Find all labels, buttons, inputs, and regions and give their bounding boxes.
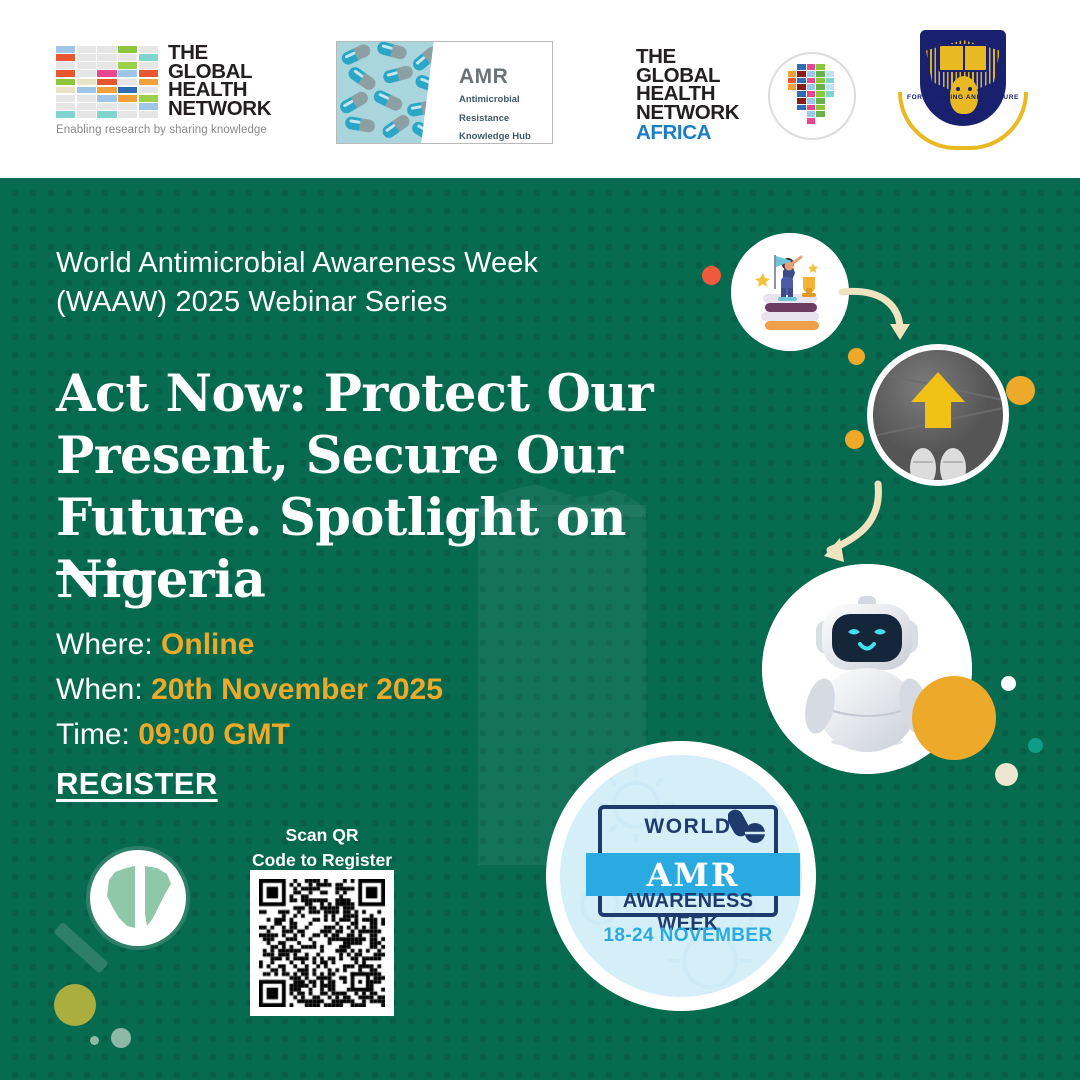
logo-the-global-health-network: THE GLOBAL HEALTH NETWORK Enabling resea… (56, 44, 324, 144)
scan-qr-label: Scan QR Code to Register (247, 823, 397, 873)
detail-label-where: Where: (56, 628, 153, 661)
detail-row-time: Time: 09:00 GMT (56, 712, 443, 757)
waaw-badge: WORLD AMR AWARENESS WEEK 18-24 NOVEMBER (546, 741, 816, 1011)
register-link[interactable]: REGISTER (56, 766, 218, 802)
decorative-dot-gold-large (912, 676, 996, 760)
logo-university-crest: FOR LEARNING AND CULTURE (898, 30, 1028, 154)
poster-root: THE GLOBAL HEALTH NETWORK Enabling resea… (0, 0, 1080, 1080)
decorative-dot-white (1001, 676, 1016, 691)
decorative-dot-cream (995, 763, 1018, 786)
detail-row-when: When: 20th November 2025 (56, 667, 443, 712)
decorative-dot-green-1 (111, 1028, 131, 1048)
capsule-pills-illustration-icon (337, 42, 449, 143)
logo-amr-knowledge-hub: AMR Antimicrobial Resistance Knowledge H… (336, 41, 553, 144)
logo-the-global-health-network-africa: THE GLOBAL HEALTH NETWORK AFRICA (636, 48, 852, 140)
magnifier-over-nigeria-map-icon (54, 838, 194, 988)
event-details: Where: Online When: 20th November 2025 T… (56, 622, 443, 757)
decorative-dot-gold-2 (845, 430, 864, 449)
decorative-dot-green-2 (90, 1036, 99, 1045)
crest-motto: FOR LEARNING AND CULTURE (898, 94, 1028, 101)
tghn-tagline: Enabling research by sharing knowledge (56, 124, 267, 136)
qr-code[interactable] (250, 870, 394, 1016)
waaw-dates-text: 18-24 NOVEMBER (580, 925, 796, 947)
event-series-kicker: World Antimicrobial Awareness Week (WAAW… (56, 244, 616, 322)
page-title: Act Now: Protect Our Present, Secure Our… (56, 363, 826, 611)
decorative-dot-teal (1028, 738, 1043, 753)
scan-qr-label-line1: Scan QR (247, 823, 397, 848)
amr-hub-sub3: Knowledge Hub (459, 130, 531, 144)
qr-code-canvas[interactable] (259, 879, 385, 1007)
amr-hub-title: AMR (459, 66, 531, 88)
decorative-dot-gold-3 (1006, 376, 1035, 405)
nigeria-map-icon (101, 862, 175, 934)
detail-value-when: 20th November 2025 (151, 673, 443, 706)
africa-map-mosaic-icon (788, 64, 834, 124)
logo-bar: THE GLOBAL HEALTH NETWORK Enabling resea… (0, 0, 1080, 178)
detail-label-when: When: (56, 673, 143, 706)
amr-hub-text: AMR Antimicrobial Resistance Knowledge H… (459, 66, 531, 144)
detail-value-where: Online (161, 628, 254, 661)
tghn-mosaic-icon (56, 46, 158, 118)
amr-hub-sub1: Antimicrobial (459, 93, 531, 107)
yellow-up-arrow-on-pavement-icon (873, 350, 1003, 480)
magnifier-lens-icon (90, 850, 186, 946)
amr-hub-sub2: Resistance (459, 112, 531, 126)
decorative-dot-coral (702, 266, 721, 285)
tghn-line4: NETWORK (168, 100, 328, 119)
detail-value-time: 09:00 GMT (138, 718, 290, 751)
decorative-dot-olive (54, 984, 96, 1026)
capsule-and-tablet-icon (728, 807, 768, 847)
waaw-badge-inner: WORLD AMR AWARENESS WEEK 18-24 NOVEMBER (560, 755, 802, 997)
decorative-dot-gold-1 (848, 348, 865, 365)
divider (56, 571, 156, 575)
person-with-flag-on-books-icon (731, 233, 849, 351)
tghn-wordmark: THE GLOBAL HEALTH NETWORK (168, 44, 328, 118)
detail-label-time: Time: (56, 718, 130, 751)
open-book-icon (938, 44, 988, 72)
detail-row-where: Where: Online (56, 622, 443, 667)
poster-body: World Antimicrobial Awareness Week (WAAW… (0, 178, 1080, 1080)
